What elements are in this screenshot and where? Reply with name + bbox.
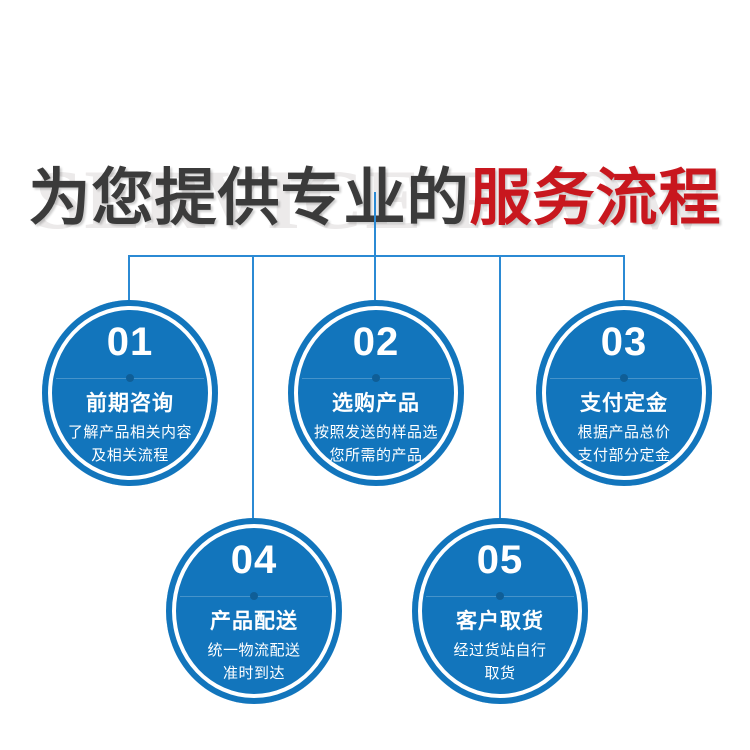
step-title: 客户取货: [412, 610, 588, 633]
step-title: 前期咨询: [42, 392, 218, 415]
step-number: 01: [42, 322, 218, 362]
step-title: 产品配送: [166, 610, 342, 633]
page-title-dark: 为您提供专业的: [28, 164, 469, 233]
step-description-line-2: 取货: [416, 663, 584, 686]
step-description-line-1: 了解产品相关内容: [46, 422, 214, 445]
connector-drop-05: [499, 255, 501, 533]
step-divider-dot: [620, 374, 628, 382]
step-description-line-1: 按照发送的样品选: [292, 422, 460, 445]
step-node-05[interactable]: 05 客户取货 经过货站自行 取货: [412, 518, 588, 704]
step-number: 05: [412, 540, 588, 580]
step-description: 根据产品总价 支付部分定金: [540, 422, 708, 467]
step-description-line-1: 统一物流配送: [170, 640, 338, 663]
connector-drop-04: [252, 255, 254, 533]
step-node-03[interactable]: 03 支付定金 根据产品总价 支付部分定金: [536, 300, 712, 486]
step-number: 04: [166, 540, 342, 580]
step-title: 选购产品: [288, 392, 464, 415]
header: SERVICE FLOW 为您提供专业的服务流程: [0, 78, 750, 193]
step-node-01[interactable]: 01 前期咨询 了解产品相关内容 及相关流程: [42, 300, 218, 486]
step-description-line-1: 根据产品总价: [540, 422, 708, 445]
step-divider-dot: [250, 592, 258, 600]
service-flow-infographic: SERVICE FLOW 为您提供专业的服务流程 01 前期咨询 了解产品相关内…: [0, 0, 750, 750]
step-description: 统一物流配送 准时到达: [170, 640, 338, 685]
step-divider-dot: [372, 374, 380, 382]
step-description-line-2: 准时到达: [170, 663, 338, 686]
step-divider-dot: [126, 374, 134, 382]
step-description-line-2: 支付部分定金: [540, 445, 708, 468]
connector-stem: [374, 192, 376, 256]
step-node-02[interactable]: 02 选购产品 按照发送的样品选 您所需的产品: [288, 300, 464, 486]
step-description-line-2: 及相关流程: [46, 445, 214, 468]
connector-bus: [128, 255, 625, 257]
step-divider-dot: [496, 592, 504, 600]
step-description: 经过货站自行 取货: [416, 640, 584, 685]
step-description: 按照发送的样品选 您所需的产品: [292, 422, 460, 467]
step-description-line-2: 您所需的产品: [292, 445, 460, 468]
step-number: 02: [288, 322, 464, 362]
step-description: 了解产品相关内容 及相关流程: [46, 422, 214, 467]
step-node-04[interactable]: 04 产品配送 统一物流配送 准时到达: [166, 518, 342, 704]
page-title-red: 服务流程: [470, 164, 722, 233]
step-description-line-1: 经过货站自行: [416, 640, 584, 663]
step-title: 支付定金: [536, 392, 712, 415]
step-number: 03: [536, 322, 712, 362]
